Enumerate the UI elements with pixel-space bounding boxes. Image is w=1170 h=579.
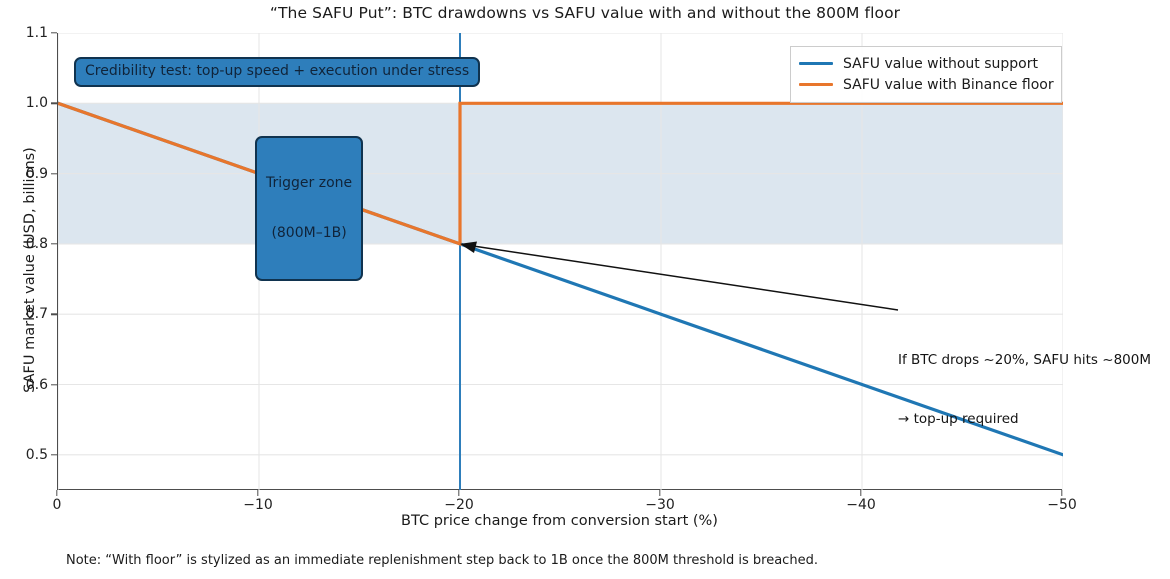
- ytick-mark-0.7: [51, 313, 57, 314]
- xtick-label--30: −30: [645, 497, 675, 513]
- xtick-mark--10: [257, 490, 258, 496]
- callout-trigger-line-2: (800M–1B): [266, 225, 352, 242]
- ytick-label-1.1: 1.1: [0, 25, 48, 41]
- chart-title: “The SAFU Put”: BTC drawdowns vs SAFU va…: [0, 4, 1170, 22]
- ytick-mark-0.9: [51, 173, 57, 174]
- annotation-arrow: [460, 242, 898, 311]
- xtick-mark--40: [860, 490, 861, 496]
- chart-footnote: Note: “With floor” is stylized as an imm…: [66, 553, 818, 568]
- legend-label-with-floor: SAFU value with Binance floor: [843, 77, 1054, 93]
- callout-credibility-test: Credibility test: top-up speed + executi…: [74, 57, 480, 87]
- legend-swatch-orange: [799, 83, 833, 86]
- ytick-mark-1.1: [51, 32, 57, 33]
- legend-label-without-support: SAFU value without support: [843, 56, 1038, 72]
- xtick-mark-0: [56, 490, 57, 496]
- callout-trigger-line-1: Trigger zone: [266, 175, 352, 192]
- ytick-label-1.0: 1.0: [0, 95, 48, 111]
- callout-trigger-zone: Trigger zone (800M–1B): [255, 136, 363, 281]
- chart-legend: SAFU value without support SAFU value wi…: [790, 46, 1062, 103]
- xtick-label-0: 0: [53, 497, 62, 513]
- ytick-mark-1.0: [51, 103, 57, 104]
- ytick-mark-0.5: [51, 454, 57, 455]
- x-axis-label: BTC price change from conversion start (…: [57, 513, 1062, 529]
- annotation-line-1: If BTC drops ~20%, SAFU hits ~800M: [898, 351, 1151, 371]
- ytick-mark-0.6: [51, 384, 57, 385]
- xtick-label--20: −20: [444, 497, 474, 513]
- xtick-label--40: −40: [846, 497, 876, 513]
- legend-swatch-blue: [799, 62, 833, 65]
- ytick-label-0.5: 0.5: [0, 447, 48, 463]
- ytick-mark-0.8: [51, 243, 57, 244]
- legend-item-without-support: SAFU value without support: [799, 53, 1053, 74]
- xtick-mark--50: [1061, 490, 1062, 496]
- xtick-mark--20: [458, 490, 459, 496]
- y-axis-label: SAFU market value (USD, billions): [22, 110, 38, 430]
- annotation-btc-drop: If BTC drops ~20%, SAFU hits ~800M → top…: [898, 312, 1151, 469]
- xtick-label--10: −10: [243, 497, 273, 513]
- annotation-line-2: → top-up required: [898, 410, 1151, 430]
- chart-figure: “The SAFU Put”: BTC drawdowns vs SAFU va…: [0, 0, 1170, 579]
- xtick-label--50: −50: [1047, 497, 1077, 513]
- legend-item-with-floor: SAFU value with Binance floor: [799, 74, 1053, 95]
- xtick-mark--30: [659, 490, 660, 496]
